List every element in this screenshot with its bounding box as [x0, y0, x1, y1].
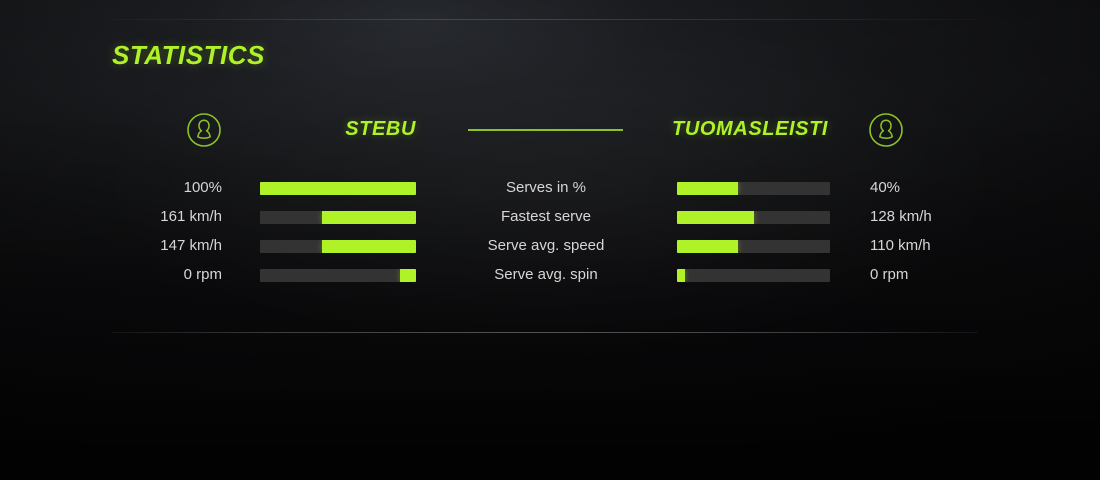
stat-bar-left — [260, 240, 416, 253]
stat-value-right: 110 km/h — [870, 236, 990, 256]
players-header: STEBU TUOMASLEISTI — [112, 112, 978, 150]
stat-bar-left-fill — [260, 182, 416, 195]
person-icon — [868, 112, 904, 148]
stat-value-right: 128 km/h — [870, 207, 990, 227]
stat-value-left: 0 rpm — [112, 265, 222, 285]
stat-bar-left-fill — [322, 240, 416, 253]
stat-bar-right — [677, 269, 830, 282]
stat-row: 0 rpm Serve avg. spin 0 rpm — [112, 265, 978, 294]
bottom-divider — [112, 332, 978, 333]
page-title: STATISTICS — [112, 40, 265, 71]
stat-bar-right — [677, 182, 830, 195]
stat-bar-left-fill — [322, 211, 416, 224]
stat-bar-right-fill — [677, 211, 754, 224]
stat-value-right: 0 rpm — [870, 265, 990, 285]
stat-bar-left-fill — [400, 269, 416, 282]
top-divider — [112, 19, 978, 20]
stat-bar-right — [677, 211, 830, 224]
stat-row: 161 km/h Fastest serve 128 km/h — [112, 207, 978, 236]
stat-row: 147 km/h Serve avg. speed 110 km/h — [112, 236, 978, 265]
stat-bar-right-fill — [677, 182, 738, 195]
stat-value-left: 161 km/h — [112, 207, 222, 227]
statistics-panel: STATISTICS STEBU TUOMASLEISTI 100% Serve… — [0, 0, 1100, 480]
stat-bar-right-fill — [677, 269, 685, 282]
player-name-right: TUOMASLEISTI — [672, 118, 852, 141]
stat-value-right: 40% — [870, 178, 990, 198]
stat-label: Fastest serve — [436, 207, 656, 227]
stat-bar-right-fill — [677, 240, 738, 253]
stat-bar-right — [677, 240, 830, 253]
stat-value-left: 100% — [112, 178, 222, 198]
stat-row: 100% Serves in % 40% — [112, 178, 978, 207]
stat-value-left: 147 km/h — [112, 236, 222, 256]
stat-label: Serve avg. spin — [436, 265, 656, 285]
stat-bar-left — [260, 269, 416, 282]
player-name-left: STEBU — [112, 118, 416, 141]
stat-bar-left — [260, 211, 416, 224]
stat-label: Serves in % — [436, 178, 656, 198]
stat-bar-left — [260, 182, 416, 195]
stats-list: 100% Serves in % 40% 161 km/h Fastest se… — [112, 178, 978, 294]
name-separator — [468, 129, 623, 131]
stat-label: Serve avg. speed — [436, 236, 656, 256]
